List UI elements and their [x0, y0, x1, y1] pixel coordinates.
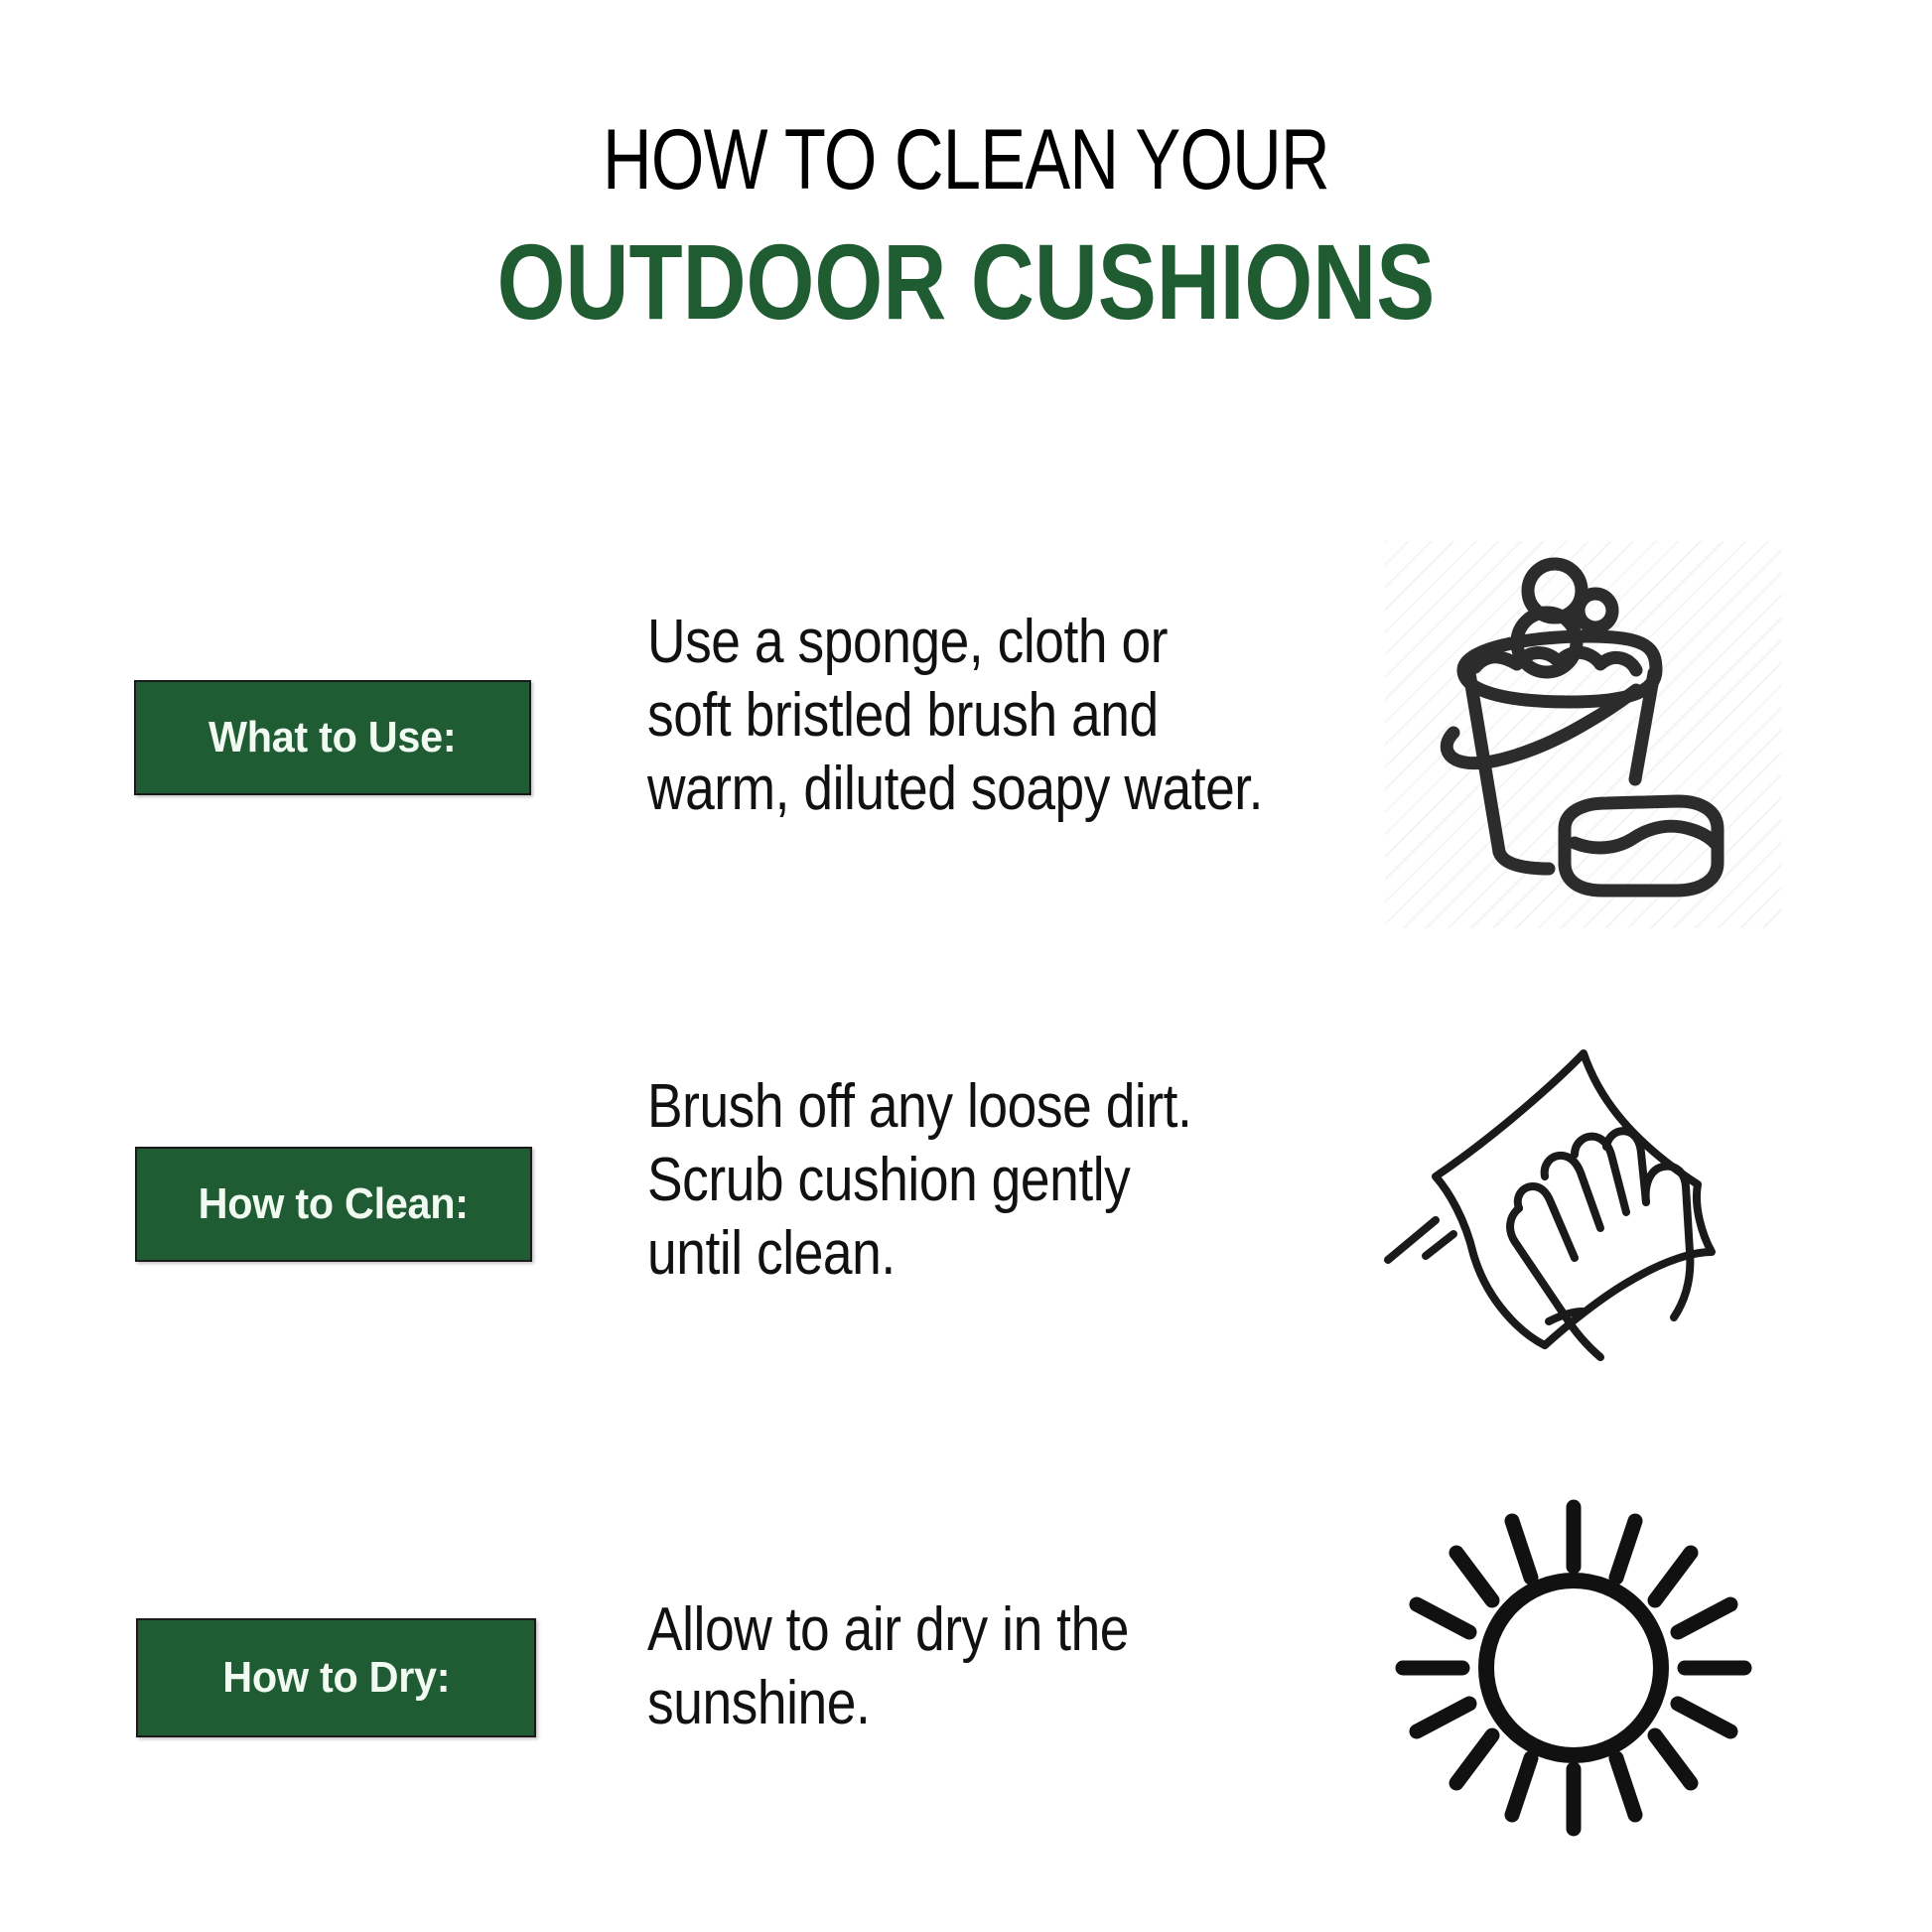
body-line: Scrub cushion gently [647, 1144, 1191, 1217]
page-title-line1: HOW TO CLEAN YOUR [194, 117, 1739, 203]
body-line: soft bristled brush and [647, 679, 1263, 753]
page-title-line2: OUTDOOR CUSHIONS [174, 228, 1758, 336]
badge-what-to-use[interactable]: What to Use: [134, 680, 531, 795]
infographic-page: HOW TO CLEAN YOUR OUTDOOR CUSHIONS What … [0, 0, 1932, 1932]
badge-how-to-dry[interactable]: How to Dry: [136, 1618, 536, 1737]
body-line: Allow to air dry in the [647, 1593, 1129, 1667]
hand-wiping-cloth-icon [1370, 1018, 1797, 1375]
badge-label: How to Dry: [222, 1653, 450, 1703]
body-text-how-to-dry: Allow to air dry in the sunshine. [647, 1593, 1129, 1740]
body-line: sunshine. [647, 1667, 1129, 1740]
bucket-with-sponge-icon [1380, 531, 1797, 948]
sun-icon [1385, 1479, 1802, 1896]
body-line: Brush off any loose dirt. [647, 1070, 1191, 1144]
badge-label: What to Use: [208, 713, 456, 762]
page-header: HOW TO CLEAN YOUR OUTDOOR CUSHIONS [0, 117, 1932, 336]
body-line: Use a sponge, cloth or [647, 606, 1263, 679]
badge-label: How to Clean: [199, 1179, 469, 1229]
badge-how-to-clean[interactable]: How to Clean: [135, 1147, 532, 1262]
body-line: warm, diluted soapy water. [647, 753, 1263, 826]
body-text-what-to-use: Use a sponge, cloth or soft bristled bru… [647, 606, 1263, 825]
body-line: until clean. [647, 1217, 1191, 1291]
body-text-how-to-clean: Brush off any loose dirt. Scrub cushion … [647, 1070, 1191, 1290]
